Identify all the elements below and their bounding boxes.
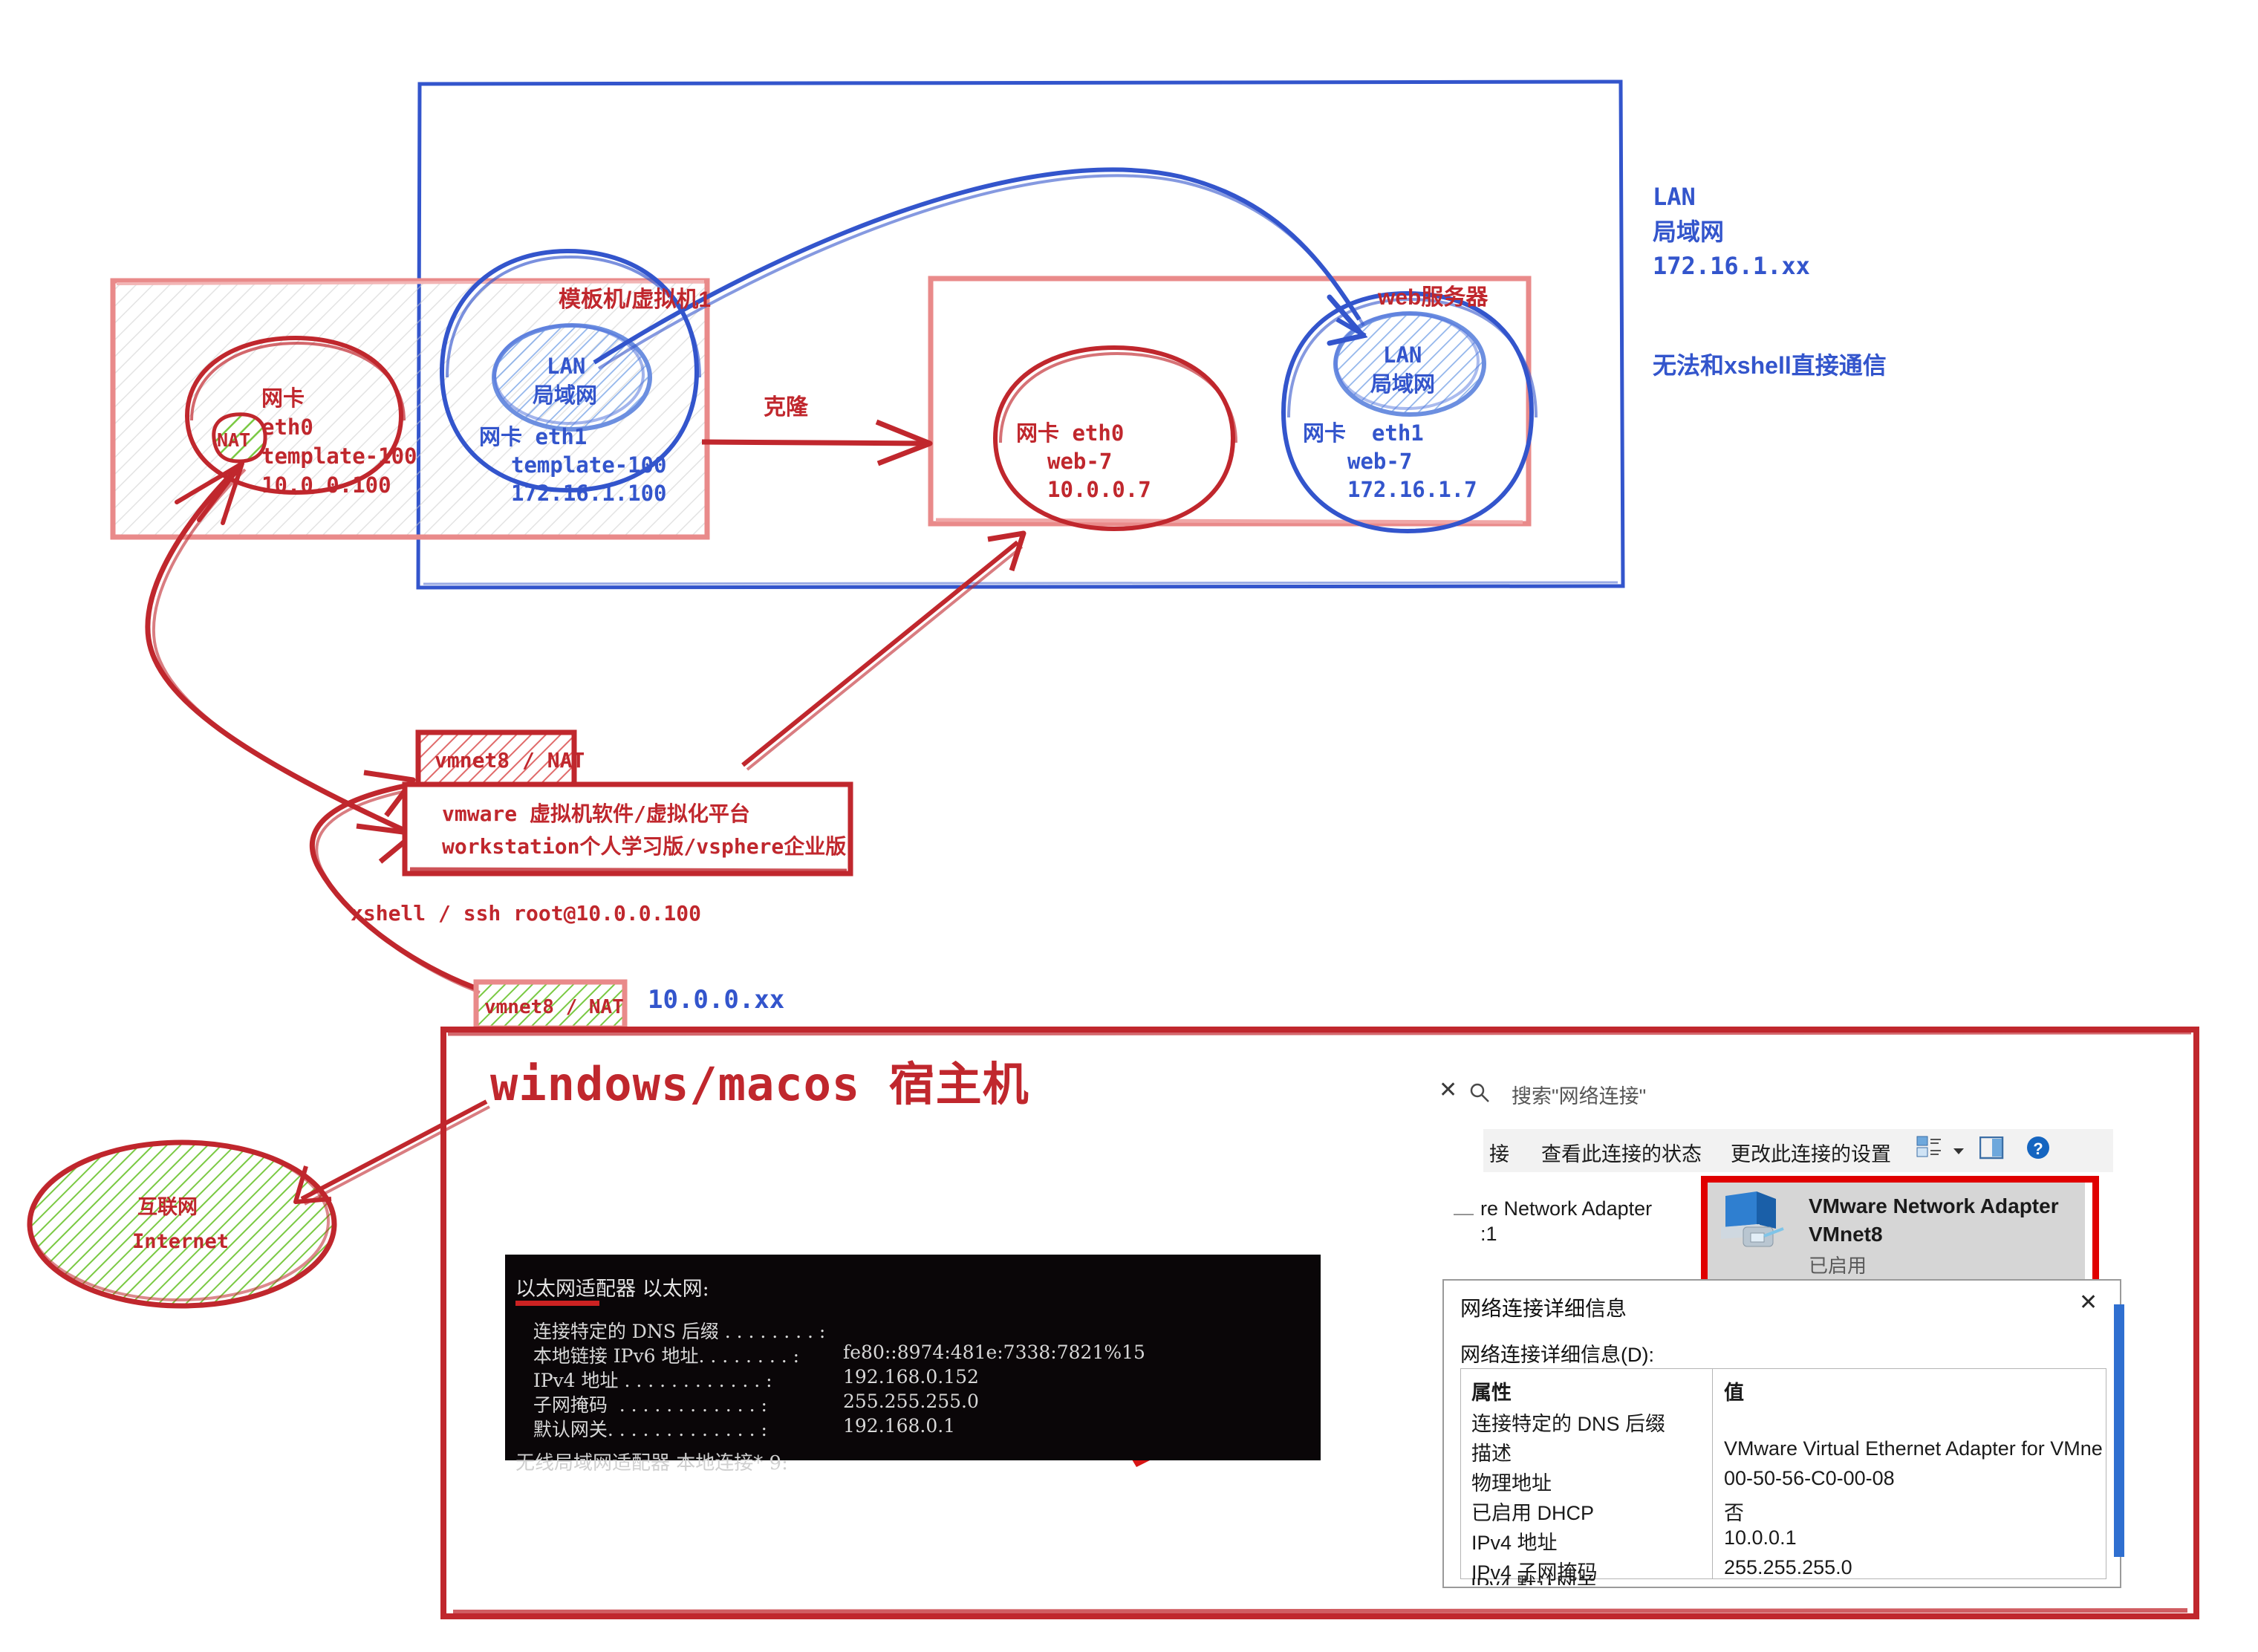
web-lan-bubble-cn: 局域网 <box>1370 371 1435 399</box>
template-vm-title: 模板机/虚拟机1 <box>559 286 711 314</box>
terminal-line-1-label: 本地链接 IPv6 地址. . . . . . . . : <box>515 1342 799 1368</box>
terminal-line-0-label: 连接特定的 DNS 后缀 . . . . . . . . : <box>515 1317 825 1344</box>
details-row-3-prop: 已启用 DHCP <box>1471 1497 1594 1526</box>
toolbar-item-truncated[interactable]: 接 <box>1489 1138 1509 1167</box>
details-table-header-value: 值 <box>1724 1376 1744 1405</box>
host-title: windows/macos 宿主机 <box>490 1055 1029 1113</box>
details-row-3-value: 否 <box>1724 1497 1744 1526</box>
details-dialog-title: 网络连接详细信息 <box>1460 1292 1627 1322</box>
search-input[interactable]: 搜索"网络连接" <box>1512 1080 1646 1109</box>
web-eth0-label: 网卡 eth0 <box>1016 420 1124 447</box>
nat-to-vmnet8-curve <box>148 464 414 862</box>
details-row-4-prop: IPv4 地址 <box>1471 1526 1558 1555</box>
terminal-line-3-value: 255.255.255.0 <box>843 1391 979 1412</box>
lan-link-arc <box>594 169 1365 368</box>
web-eth0-host: web-7 <box>1047 448 1112 475</box>
vmnet8-nat-label-bottom: vmnet8 / NAT <box>484 995 624 1020</box>
details-row-2-prop: 物理地址 <box>1471 1467 1552 1496</box>
web-eth0-ip: 10.0.0.7 <box>1047 476 1151 504</box>
template-eth0-host: template-100 <box>261 443 417 470</box>
template-eth1-host: template-100 <box>511 452 667 479</box>
lan-legend-lan: LAN <box>1653 182 1696 212</box>
details-dialog-close-icon[interactable]: ✕ <box>2079 1290 2098 1316</box>
template-eth1-ip: 172.16.1.100 <box>511 480 667 507</box>
terminal-line-3-label: 子网掩码 . . . . . . . . . . . . : <box>515 1391 767 1417</box>
terminal-line-1-value: fe80::8974:481e:7338:7821%15 <box>843 1342 1145 1363</box>
template-eth0-iface: eth0 <box>261 414 313 441</box>
details-row-0-prop: 连接特定的 DNS 后缀 <box>1471 1408 1665 1437</box>
terminal-header: 以太网适配器 以太网: <box>515 1272 709 1301</box>
vmware-note-line1: vmware 虚拟机软件/虚拟化平台 <box>442 801 750 827</box>
nat-badge-label: NAT <box>217 429 250 452</box>
lan-outer-box <box>418 82 1623 588</box>
web-server-title: web服务器 <box>1378 284 1488 312</box>
nat-subnet-label: 10.0.0.xx <box>648 984 784 1017</box>
terminal-line-2-value: 192.168.0.152 <box>843 1366 979 1388</box>
toolbar-view-status[interactable]: 查看此连接的状态 <box>1541 1138 1702 1167</box>
note-no-xshell: 无法和xshell直接通信 <box>1653 351 1887 381</box>
terminal-line-4-label: 默认网关. . . . . . . . . . . . . : <box>515 1415 767 1442</box>
terminal-footer: 无线局域网适配器 本地连接* 9: <box>515 1448 788 1475</box>
terminal-line-2-label: IPv4 地址 . . . . . . . . . . . . : <box>515 1366 772 1393</box>
template-lan-bubble-cn: 局域网 <box>533 383 597 410</box>
web-eth1-host: web-7 <box>1347 448 1412 475</box>
xshell-command: xshell / ssh root@10.0.0.100 <box>351 900 701 927</box>
lan-legend-subnet: 172.16.1.xx <box>1653 251 1810 282</box>
internet-label-en: Internet <box>132 1229 229 1255</box>
help-icon[interactable]: ? <box>2026 1135 2052 1162</box>
web-lan-bubble-lan: LAN <box>1383 342 1422 369</box>
template-eth1-label: 网卡 eth1 <box>479 423 587 451</box>
details-table-header-prop: 属性 <box>1471 1376 1512 1405</box>
template-eth0-l1: 网卡 <box>261 386 305 411</box>
window-close-icon[interactable]: ✕ <box>1439 1077 1457 1103</box>
template-eth0-ip: 10.0.0.100 <box>261 472 391 499</box>
web-eth1-label: 网卡 eth1 <box>1303 420 1424 447</box>
terminal-header-underline <box>515 1301 599 1306</box>
network-details-dialog: 网络连接详细信息 ✕ 网络连接详细信息(D): 属性 值 连接特定的 DNS 后… <box>1442 1279 2121 1588</box>
terminal-line-4-value: 192.168.0.1 <box>843 1415 955 1437</box>
left-list-dash: — <box>1454 1202 1474 1225</box>
details-table-column-divider <box>1712 1369 1713 1578</box>
vmware-note-box <box>405 784 850 874</box>
details-row-1-value: VMware Virtual Ethernet Adapter for VMne <box>1724 1437 2103 1460</box>
host-to-internet-arrow <box>296 1102 489 1204</box>
internet-label-cn: 互联网 <box>137 1194 198 1220</box>
details-table: 属性 值 连接特定的 DNS 后缀 描述 VMware Virtual Ethe… <box>1460 1368 2106 1579</box>
details-row-6-prop: IPv4 默认网关 <box>1471 1569 1597 1585</box>
search-icon <box>1468 1082 1491 1104</box>
left-adapter-name-l2[interactable]: :1 <box>1480 1223 1497 1246</box>
details-row-5-value: 255.255.255.0 <box>1724 1556 1852 1579</box>
webserver-to-vmnet8-arrow <box>743 533 1024 770</box>
vmnet8-nat-label-top: vmnet8 / NAT <box>435 747 585 774</box>
view-layout-icon[interactable] <box>1916 1135 1943 1160</box>
clone-arrow <box>702 422 930 464</box>
terminal-window: 以太网适配器 以太网: 连接特定的 DNS 后缀 . . . . . . . .… <box>505 1255 1321 1460</box>
template-lan-bubble-lan: LAN <box>547 353 585 380</box>
details-row-2-value: 00-50-56-C0-00-08 <box>1724 1467 1895 1490</box>
network-connections-window: ✕ 搜索"网络连接" 接 查看此连接的状态 更改此连接的设置 ? <box>1437 1070 2113 1285</box>
preview-pane-icon[interactable] <box>1979 1136 2005 1160</box>
lan-legend-cn: 局域网 <box>1653 217 1724 247</box>
details-row-4-value: 10.0.0.1 <box>1724 1526 1797 1549</box>
toolbar-change-settings[interactable]: 更改此连接的设置 <box>1731 1138 1891 1167</box>
clone-label: 克隆 <box>764 394 808 422</box>
vmware-note-line2: workstation个人学习版/vsphere企业版 <box>442 833 846 860</box>
diagram-canvas: LAN 局域网 172.16.1.xx 无法和xshell直接通信 模板机/虚拟… <box>0 0 2258 1652</box>
svg-text:?: ? <box>2033 1139 2043 1158</box>
left-adapter-name-l1[interactable]: re Network Adapter <box>1480 1197 1652 1220</box>
internet-ellipse <box>30 1142 334 1306</box>
web-eth1-ip: 172.16.1.7 <box>1347 476 1477 504</box>
template-eth0-label: 网卡 <box>261 385 305 412</box>
chevron-down-icon[interactable] <box>1951 1144 1966 1159</box>
dialog-scrollbar[interactable] <box>2114 1304 2124 1557</box>
details-row-1-prop: 描述 <box>1471 1437 1512 1466</box>
details-dialog-subtitle: 网络连接详细信息(D): <box>1460 1339 1654 1368</box>
